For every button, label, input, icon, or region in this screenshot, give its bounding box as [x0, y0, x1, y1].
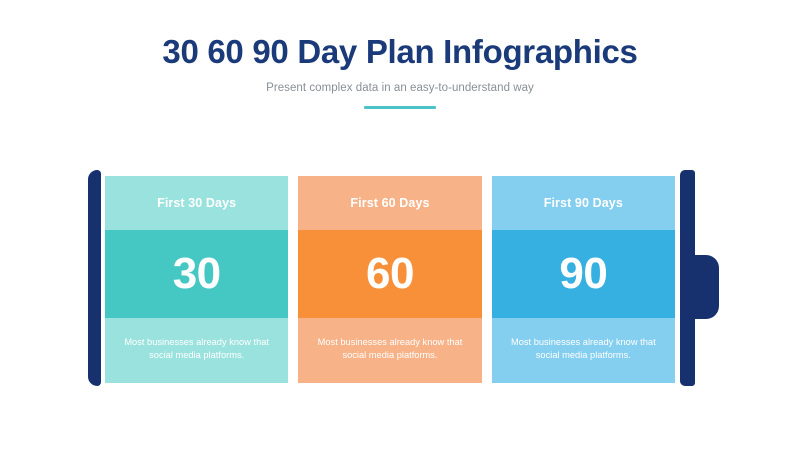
stage-card-30[interactable]: First 30 Days 30 Most businesses already…: [105, 176, 288, 383]
page-title: 30 60 90 Day Plan Infographics: [0, 32, 800, 72]
battery-positive-terminal: [691, 255, 719, 319]
stage-card-description-60: Most businesses already know that social…: [298, 318, 481, 383]
stage-card-header-60: First 60 Days: [298, 176, 481, 230]
stage-card-value-band-30: 30: [105, 230, 288, 318]
stage-card-header-30: First 30 Days: [105, 176, 288, 230]
title-accent-rule: [364, 106, 436, 109]
battery-negative-cap: [88, 170, 101, 386]
stage-card-description-90: Most businesses already know that social…: [492, 318, 675, 383]
stage-card-value-band-60: 60: [298, 230, 481, 318]
slide-header: 30 60 90 Day Plan Infographics Present c…: [0, 32, 800, 109]
stage-card-value-60: 60: [366, 252, 414, 296]
stage-card-list: First 30 Days 30 Most businesses already…: [105, 176, 675, 383]
stage-card-value-30: 30: [173, 252, 221, 296]
stage-card-value-band-90: 90: [492, 230, 675, 318]
stage-card-90[interactable]: First 90 Days 90 Most businesses already…: [492, 176, 675, 383]
slide-canvas: 30 60 90 Day Plan Infographics Present c…: [0, 0, 800, 450]
stage-card-description-30: Most businesses already know that social…: [105, 318, 288, 383]
stage-card-header-90: First 90 Days: [492, 176, 675, 230]
page-subtitle: Present complex data in an easy-to-under…: [0, 81, 800, 96]
stage-card-60[interactable]: First 60 Days 60 Most businesses already…: [298, 176, 481, 383]
stage-card-value-90: 90: [559, 252, 607, 296]
